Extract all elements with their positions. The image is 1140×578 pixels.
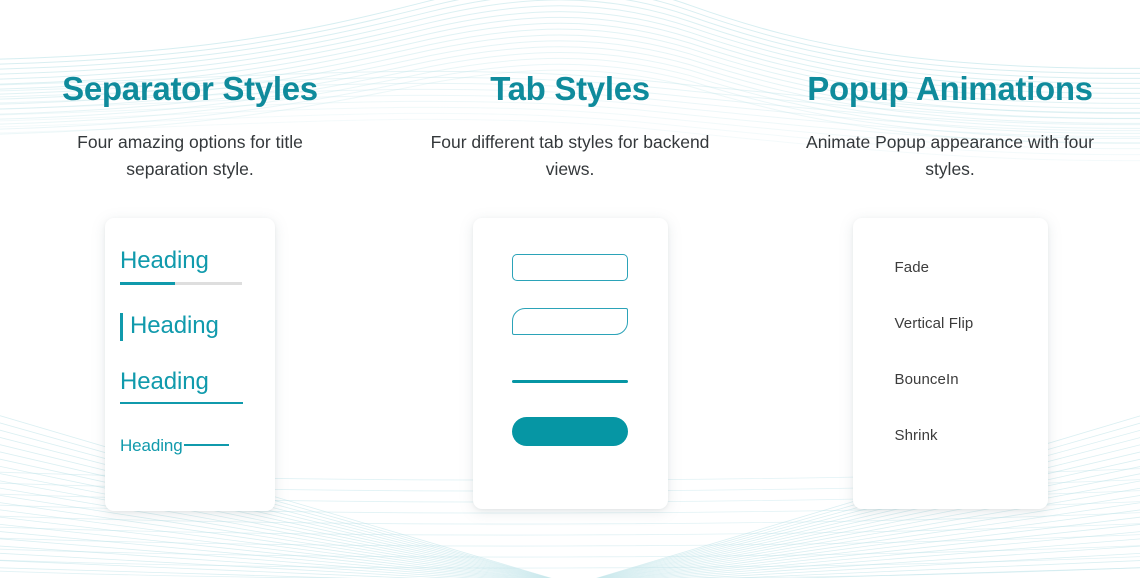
description-popup-animations: Animate Popup appearance with four style… (800, 105, 1100, 182)
popup-animation-option-shrink[interactable]: Shrink (895, 428, 1048, 443)
description-tab-styles: Four different tab styles for backend vi… (420, 105, 720, 182)
separator-style-underline-full[interactable]: Heading (120, 369, 275, 404)
tab-style-outline-rounded[interactable] (512, 254, 628, 281)
separator-vertical-bar (120, 313, 123, 341)
popup-animation-list: Fade Vertical Flip BounceIn Shrink (853, 218, 1048, 443)
separator-rule-trailing (184, 444, 229, 446)
popup-animation-option-vertical-flip[interactable]: Vertical Flip (895, 316, 1048, 331)
popup-animations-card: Fade Vertical Flip BounceIn Shrink (853, 218, 1048, 509)
description-separator-styles: Four amazing options for title separatio… (40, 105, 340, 182)
separator-label: Heading (120, 248, 209, 275)
popup-animation-option-bouncein[interactable]: BounceIn (895, 372, 1048, 387)
tab-style-diagonal-corners[interactable] (512, 308, 628, 335)
separator-label: Heading (120, 369, 209, 396)
page-title-popup-animations: Popup Animations (807, 0, 1092, 105)
separator-label: Heading (120, 436, 183, 455)
page-title-tab-styles: Tab Styles (490, 0, 650, 105)
popup-animation-option-fade[interactable]: Fade (895, 260, 1048, 275)
separator-style-underline-split[interactable]: Heading (120, 248, 275, 285)
column-popup-animations: Popup Animations Animate Popup appearanc… (760, 0, 1140, 578)
separator-rule-full (120, 402, 243, 404)
column-separator-styles: Separator Styles Four amazing options fo… (0, 0, 380, 578)
tab-style-underline[interactable] (512, 380, 628, 383)
tab-style-filled-pill[interactable] (512, 417, 628, 446)
feature-columns: Separator Styles Four amazing options fo… (0, 0, 1140, 578)
tab-underline-rule (512, 380, 628, 383)
page-title-separator-styles: Separator Styles (62, 0, 318, 105)
tab-list (473, 218, 668, 446)
separator-styles-card: Heading Heading Heading Heading (105, 218, 275, 511)
separator-style-trailing-line[interactable]: Heading (120, 436, 275, 455)
separator-label: Heading (130, 313, 219, 341)
tab-styles-card (473, 218, 668, 509)
separator-list: Heading Heading Heading Heading (105, 240, 275, 455)
separator-style-left-bar[interactable]: Heading (120, 313, 275, 341)
column-tab-styles: Tab Styles Four different tab styles for… (380, 0, 760, 578)
separator-rule-split (120, 282, 242, 285)
